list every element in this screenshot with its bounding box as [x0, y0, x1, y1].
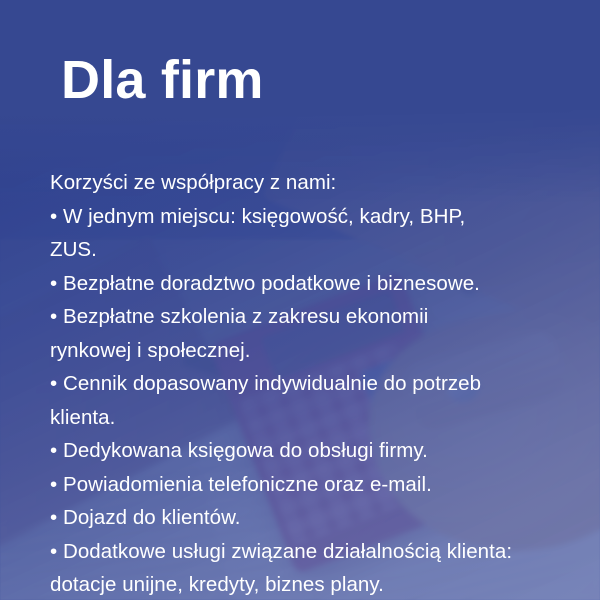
list-item-line-11: • Dodatkowe usługi związane działalności… [50, 535, 562, 569]
list-item-line-9: • Powiadomienia telefoniczne oraz e-mail… [50, 468, 562, 502]
list-item-line-7: klienta. [50, 401, 562, 435]
list-item-line-3: • Bezpłatne doradztwo podatkowe i biznes… [50, 267, 562, 301]
poster-content: Dla firm Korzyści ze współpracy z nami: … [0, 0, 600, 600]
page-title: Dla firm [61, 52, 264, 109]
list-item-line-5: rynkowej i społecznej. [50, 334, 562, 368]
list-item-line-1: • W jednym miejscu: księgowość, kadry, B… [50, 200, 562, 234]
list-item-line-4: • Bezpłatne szkolenia z zakresu ekonomii [50, 300, 562, 334]
list-item-line-6: • Cennik dopasowany indywidualnie do pot… [50, 367, 562, 401]
list-item-line-2: ZUS. [50, 233, 562, 267]
intro-line: Korzyści ze współpracy z nami: [50, 166, 562, 200]
promo-poster: Dla firm Korzyści ze współpracy z nami: … [0, 0, 600, 600]
list-item-line-10: • Dojazd do klientów. [50, 501, 562, 535]
benefits-text-block: Korzyści ze współpracy z nami: • W jedny… [50, 166, 562, 600]
list-item-line-8: • Dedykowana księgowa do obsługi firmy. [50, 434, 562, 468]
list-item-line-12: dotacje unijne, kredyty, biznes plany. [50, 568, 562, 600]
